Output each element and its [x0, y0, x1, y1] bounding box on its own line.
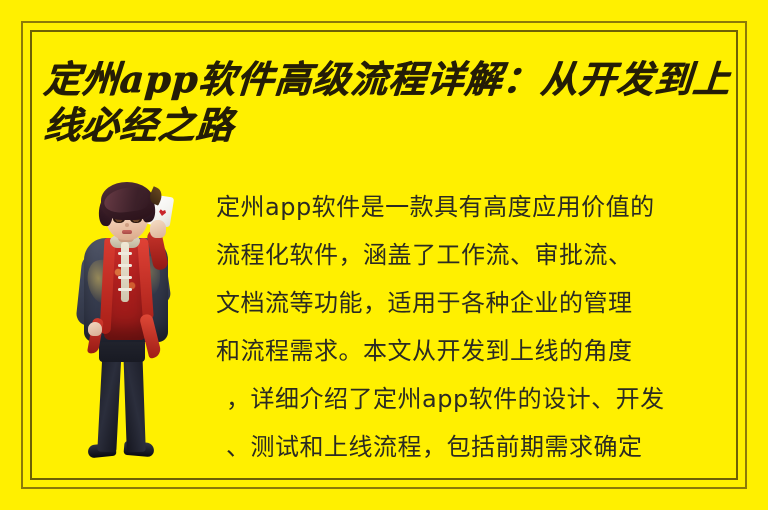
- character-illustration: [66, 176, 186, 476]
- hand-right: [150, 220, 166, 238]
- article-body: 定州app软件是一款具有高度应用价值的 流程化软件，涵盖了工作流、审批流、 文档…: [216, 183, 738, 480]
- article-body-line-2: 流程化软件，涵盖了工作流、审批流、: [216, 231, 738, 279]
- article-body-line-3: 文档流等功能，适用于各种企业的管理: [216, 279, 738, 327]
- article-body-line-1: 定州app软件是一款具有高度应用价值的: [216, 183, 738, 231]
- article-body-line-4: 和流程需求。本文从开发到上线的角度: [216, 327, 738, 375]
- trouser-leg-right: [123, 348, 146, 453]
- mouth-shape: [122, 230, 132, 234]
- trouser-leg-left: [97, 348, 121, 453]
- hand-left: [88, 322, 102, 336]
- article-title-line-2: 线必经之路: [42, 102, 745, 148]
- frog-button-2: [118, 264, 132, 267]
- article-body-line-5: ，详细介绍了定州app软件的设计、开发: [216, 375, 738, 423]
- nose-shape: [125, 223, 129, 227]
- frog-button-1: [118, 252, 132, 255]
- article-title-line-1: 定州app软件高级流程详解：从开发到上: [42, 56, 745, 102]
- frog-button-4: [118, 288, 132, 291]
- article-body-line-6: 、测试和上线流程，包括前期需求确定: [216, 423, 738, 471]
- article-card: 定州app软件高级流程详解：从开发到上 线必经之路: [0, 0, 768, 510]
- placket-shape: [121, 242, 129, 302]
- article-title: 定州app软件高级流程详解：从开发到上 线必经之路: [44, 56, 744, 148]
- frog-button-3: [118, 276, 132, 279]
